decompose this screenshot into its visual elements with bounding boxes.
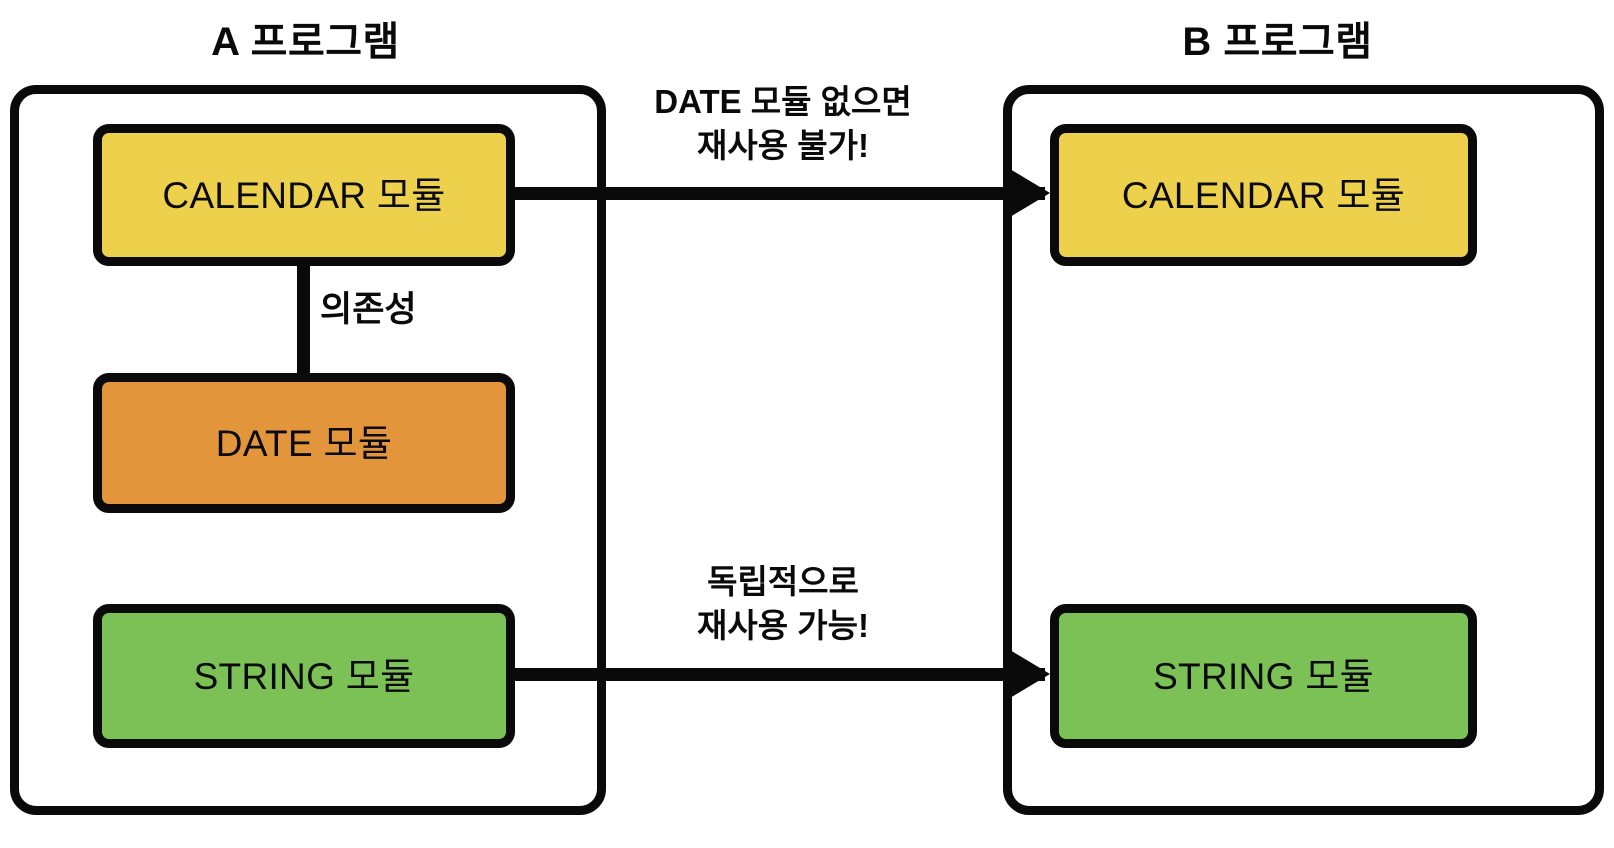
module-label-b-string: STRING 모듈 [1153, 658, 1374, 695]
module-box-a-string[interactable]: STRING 모듈 [93, 604, 515, 748]
module-box-a-calendar[interactable]: CALENDAR 모듈 [93, 124, 515, 266]
calendar-reuse-note: DATE 모듈 없으면 재사용 불가! [608, 80, 958, 167]
module-label-a-string: STRING 모듈 [194, 658, 415, 695]
module-label-b-calendar: CALENDAR 모듈 [1122, 177, 1405, 214]
calendar-reuse-arrow-shaft [505, 187, 1045, 200]
module-box-b-string[interactable]: STRING 모듈 [1050, 604, 1477, 748]
dependency-connector-line [297, 262, 310, 380]
string-reuse-arrow-shaft [505, 668, 1045, 681]
program-a-title: A 프로그램 [118, 22, 493, 62]
string-reuse-note-line-2: 재사용 가능! [608, 604, 958, 648]
calendar-reuse-note-line-1: DATE 모듈 없으면 [608, 80, 958, 124]
dependency-label: 의존성 [320, 292, 417, 327]
diagram-canvas: A 프로그램 B 프로그램 의존성 DATE 모듈 없으면 재사용 불가! 독립… [0, 0, 1614, 848]
module-label-a-date: DATE 모듈 [216, 425, 392, 462]
string-reuse-note: 독립적으로 재사용 가능! [608, 560, 958, 647]
module-box-b-calendar[interactable]: CALENDAR 모듈 [1050, 124, 1477, 266]
string-reuse-note-line-1: 독립적으로 [608, 560, 958, 604]
module-label-a-calendar: CALENDAR 모듈 [162, 177, 445, 214]
module-box-a-date[interactable]: DATE 모듈 [93, 373, 515, 513]
calendar-reuse-arrowhead-icon [1010, 169, 1050, 217]
string-reuse-arrowhead-icon [1010, 650, 1050, 698]
program-b-title: B 프로그램 [1090, 22, 1465, 62]
calendar-reuse-note-line-2: 재사용 불가! [608, 124, 958, 168]
